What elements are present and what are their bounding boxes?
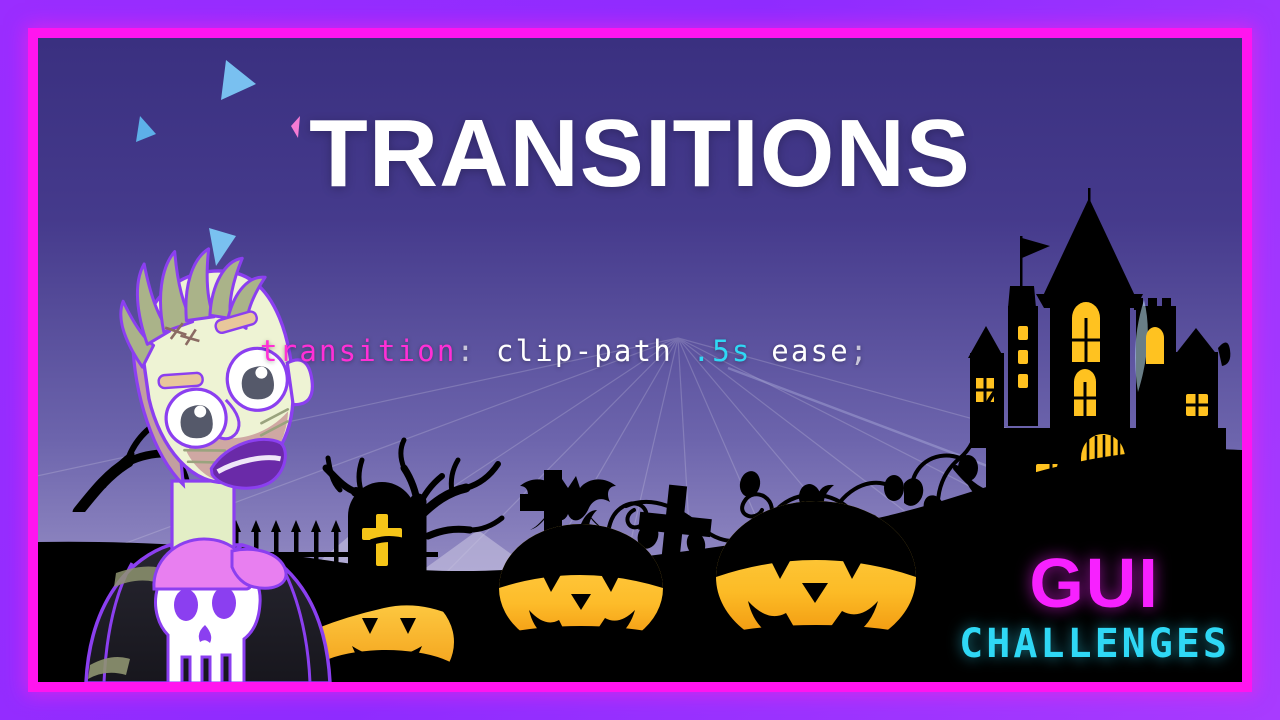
code-easing: ease bbox=[771, 334, 850, 368]
scene-panel: TRANSITIONS transition: clip-path .5s ea… bbox=[38, 38, 1242, 682]
neon-frame: TRANSITIONS transition: clip-path .5s ea… bbox=[28, 28, 1252, 692]
jack-o-lantern bbox=[493, 506, 673, 656]
code-property: transition bbox=[260, 334, 457, 368]
code-snippet: transition: clip-path .5s ease; bbox=[260, 334, 870, 368]
logo-primary-text: GUI bbox=[959, 548, 1230, 618]
logo-secondary-text: CHALLENGES bbox=[959, 624, 1230, 664]
zombie-character bbox=[46, 233, 366, 682]
brand-logo: GUI CHALLENGES bbox=[959, 548, 1230, 664]
castle-flag bbox=[1022, 238, 1050, 258]
code-colon: : bbox=[457, 334, 477, 368]
code-value: clip-path bbox=[496, 334, 673, 368]
code-duration: .5s bbox=[693, 334, 752, 368]
confetti-triangle bbox=[221, 60, 256, 100]
thumbnail-canvas: TRANSITIONS transition: clip-path .5s ea… bbox=[0, 0, 1280, 720]
code-semicolon: ; bbox=[850, 334, 870, 368]
jack-o-lantern bbox=[710, 483, 930, 658]
page-title: TRANSITIONS bbox=[38, 106, 1242, 202]
